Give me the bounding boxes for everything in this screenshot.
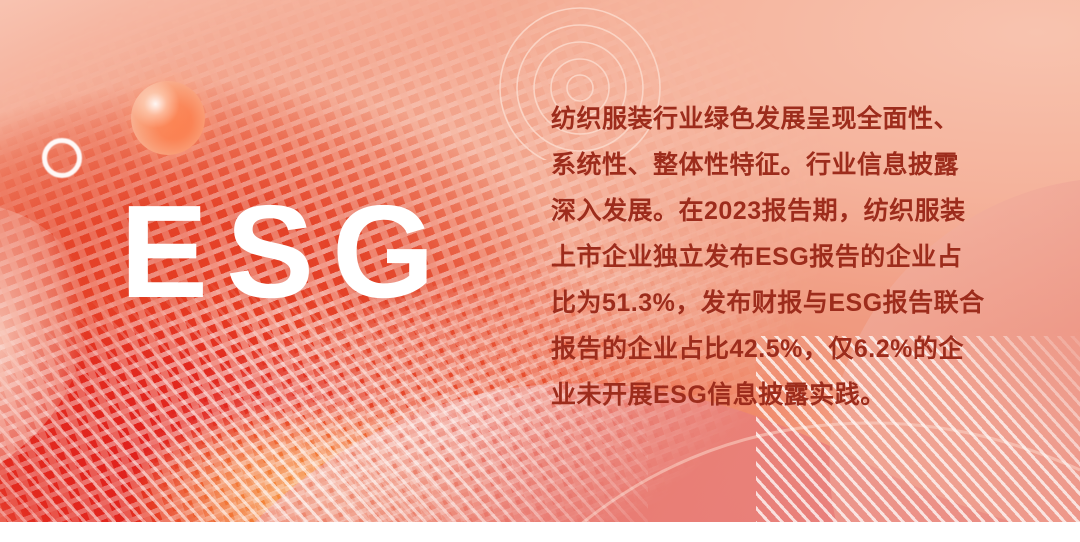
body-copy: 纺织服装行业绿色发展呈现全面性、 系统性、整体性特征。行业信息披露 深入发展。在… bbox=[551, 96, 1003, 418]
gradient-sphere-icon bbox=[131, 81, 205, 155]
esg-wordmark: ESG bbox=[120, 186, 453, 318]
copy-line: 上市企业独立发布ESG报告的企业占 bbox=[551, 234, 1003, 280]
outline-ring-icon bbox=[42, 138, 82, 178]
bottom-white-strip bbox=[0, 522, 1080, 542]
esg-banner: ESG 纺织服装行业绿色发展呈现全面性、 系统性、整体性特征。行业信息披露 深入… bbox=[0, 0, 1080, 542]
copy-line: 报告的企业占比42.5%，仅6.2%的企 bbox=[551, 326, 1003, 372]
copy-line: 深入发展。在2023报告期，纺织服装 bbox=[551, 188, 1003, 234]
copy-line: 业未开展ESG信息披露实践。 bbox=[551, 372, 1003, 418]
copy-line: 系统性、整体性特征。行业信息披露 bbox=[551, 142, 1003, 188]
copy-line: 纺织服装行业绿色发展呈现全面性、 bbox=[551, 96, 1003, 142]
copy-line: 比为51.3%，发布财报与ESG报告联合 bbox=[551, 280, 1003, 326]
